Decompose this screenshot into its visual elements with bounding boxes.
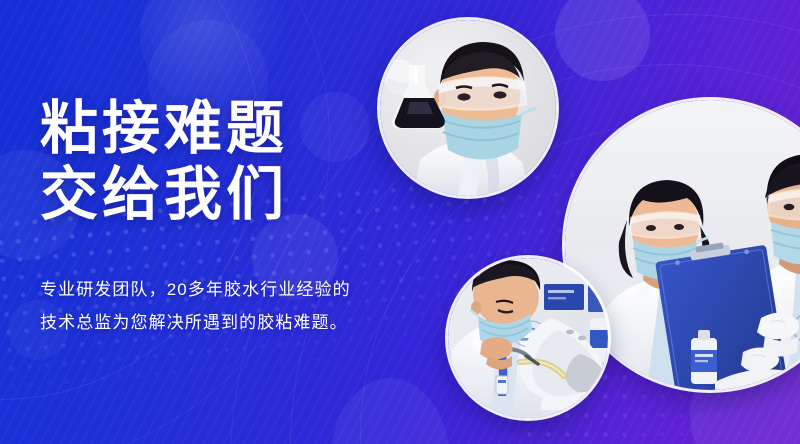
headline-line-2: 交给我们 [40, 162, 288, 227]
subtitle-line-1: 专业研发团队，20多年胶水行业经验的 [40, 273, 351, 306]
subtitle-line-2: 技术总监为您解决所遇到的胶粘难题。 [40, 306, 351, 339]
glow-blob [555, 0, 650, 81]
glow-blob [140, 0, 290, 110]
subtitle-block: 专业研发团队，20多年胶水行业经验的 技术总监为您解决所遇到的胶粘难题。 [40, 273, 351, 339]
photo-technician-applying-adhesive [448, 258, 608, 418]
headline-line-2-wrapper: 交给我们 [40, 162, 460, 228]
photo-researcher-holding-flask [380, 20, 556, 196]
headline-line-2-underlined: 交给我们 [40, 162, 288, 228]
promo-banner: 粘接难题 交给我们 专业研发团队，20多年胶水行业经验的 技术总监为您解决所遇到… [0, 0, 800, 444]
